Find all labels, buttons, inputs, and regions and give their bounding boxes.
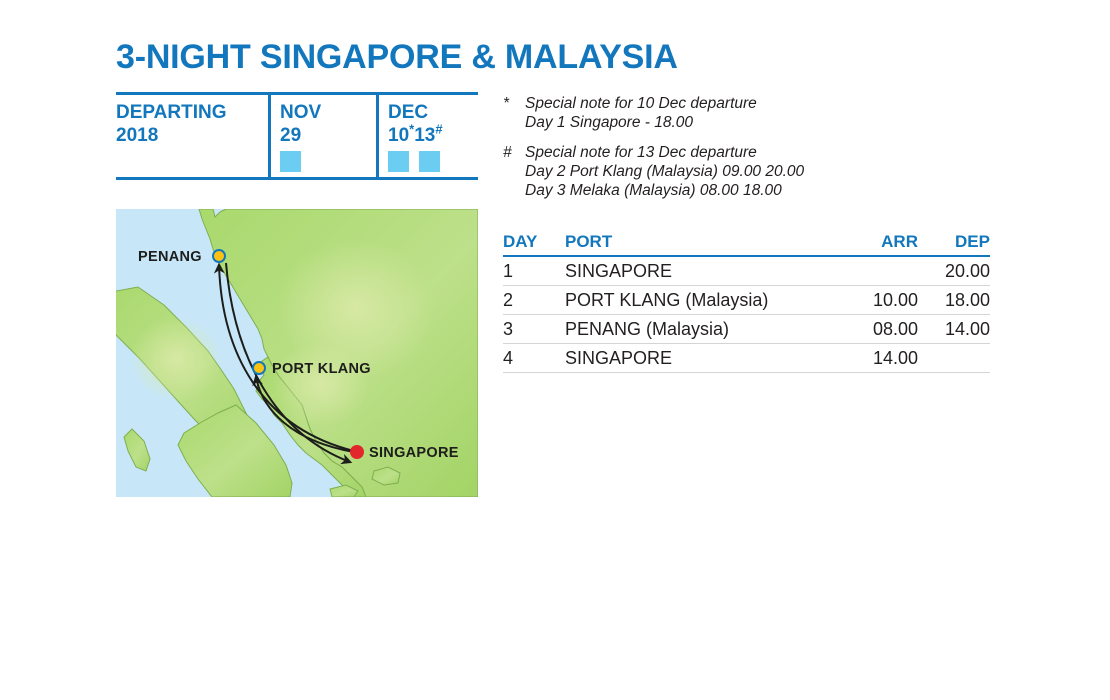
cell-arr: 10.00 xyxy=(840,290,918,311)
cell-port: SINGAPORE xyxy=(565,261,840,282)
swatches-nov xyxy=(280,151,376,172)
month-name-dec: DEC xyxy=(388,101,478,124)
departing-label: DEPARTING xyxy=(116,101,268,124)
cell-day: 2 xyxy=(503,290,565,311)
note-heading-row: # Special note for 13 Dec departure xyxy=(503,143,973,162)
map-label-penang: PENANG xyxy=(138,249,202,265)
date-swatch xyxy=(280,151,301,172)
cell-day: 3 xyxy=(503,319,565,340)
note-heading: Special note for 10 Dec departure xyxy=(525,94,757,113)
cell-port: PORT KLANG (Malaysia) xyxy=(565,290,840,311)
itinerary-body: 1 SINGAPORE 20.00 2 PORT KLANG (Malaysia… xyxy=(503,257,990,373)
page-title: 3-NIGHT SINGAPORE & MALAYSIA xyxy=(116,38,678,77)
port-marker-singapore xyxy=(350,445,364,459)
cell-dep: 14.00 xyxy=(918,319,990,340)
map-label-singapore: SINGAPORE xyxy=(369,445,459,461)
special-notes: * Special note for 10 Dec departure Day … xyxy=(503,94,973,211)
column-header-arr: ARR xyxy=(840,232,918,252)
note-heading-row: * Special note for 10 Dec departure xyxy=(503,94,973,113)
note-detail: Day 1 Singapore - 18.00 xyxy=(503,113,973,132)
cell-arr: 08.00 xyxy=(840,319,918,340)
table-row: 1 SINGAPORE 20.00 xyxy=(503,257,990,286)
cell-arr: 14.00 xyxy=(840,348,918,369)
month-name-nov: NOV xyxy=(280,101,376,124)
date-swatch xyxy=(388,151,409,172)
column-header-dep: DEP xyxy=(918,232,990,252)
note-marker-hash: # xyxy=(503,143,525,162)
cell-port: PENANG (Malaysia) xyxy=(565,319,840,340)
cell-dep: 20.00 xyxy=(918,261,990,282)
note-marker-asterisk: * xyxy=(503,94,525,113)
cell-day: 4 xyxy=(503,348,565,369)
month-dates-nov: 29 xyxy=(280,124,376,147)
port-marker-port-klang xyxy=(252,361,266,375)
note-detail: Day 2 Port Klang (Malaysia) 09.00 20.00 xyxy=(503,162,973,181)
cell-port: SINGAPORE xyxy=(565,348,840,369)
highland-shading xyxy=(273,342,369,426)
note-detail: Day 3 Melaka (Malaysia) 08.00 18.00 xyxy=(503,181,973,200)
highland-shading xyxy=(130,317,222,401)
cell-dep: 18.00 xyxy=(918,290,990,311)
month-dates-dec: 10*13# xyxy=(388,124,478,147)
cell-day: 1 xyxy=(503,261,565,282)
port-marker-penang xyxy=(212,249,226,263)
special-note-hash: # Special note for 13 Dec departure Day … xyxy=(503,143,973,200)
map-label-port-klang: PORT KLANG xyxy=(272,361,371,377)
special-note-star: * Special note for 10 Dec departure Day … xyxy=(503,94,973,132)
table-row: 2 PORT KLANG (Malaysia) 10.00 18.00 xyxy=(503,286,990,315)
cruise-itinerary-page: 3-NIGHT SINGAPORE & MALAYSIA DEPARTING 2… xyxy=(0,0,1110,700)
route-map: PENANG PORT KLANG SINGAPORE xyxy=(116,209,478,497)
itinerary-header-row: DAY PORT ARR DEP xyxy=(503,232,990,257)
departing-label-column: DEPARTING 2018 xyxy=(116,95,268,177)
table-row: 3 PENANG (Malaysia) 08.00 14.00 xyxy=(503,315,990,344)
departing-month-dec: DEC 10*13# xyxy=(376,95,478,177)
departing-table: DEPARTING 2018 NOV 29 DEC 10*13# xyxy=(116,92,478,180)
departing-year: 2018 xyxy=(116,124,268,147)
date-swatch xyxy=(419,151,440,172)
departing-month-nov: NOV 29 xyxy=(268,95,376,177)
note-heading: Special note for 13 Dec departure xyxy=(525,143,757,162)
table-row: 4 SINGAPORE 14.00 xyxy=(503,344,990,373)
itinerary-table: DAY PORT ARR DEP 1 SINGAPORE 20.00 2 POR… xyxy=(503,232,990,373)
column-header-day: DAY xyxy=(503,232,565,252)
swatches-dec xyxy=(388,151,478,172)
column-header-port: PORT xyxy=(565,232,840,252)
